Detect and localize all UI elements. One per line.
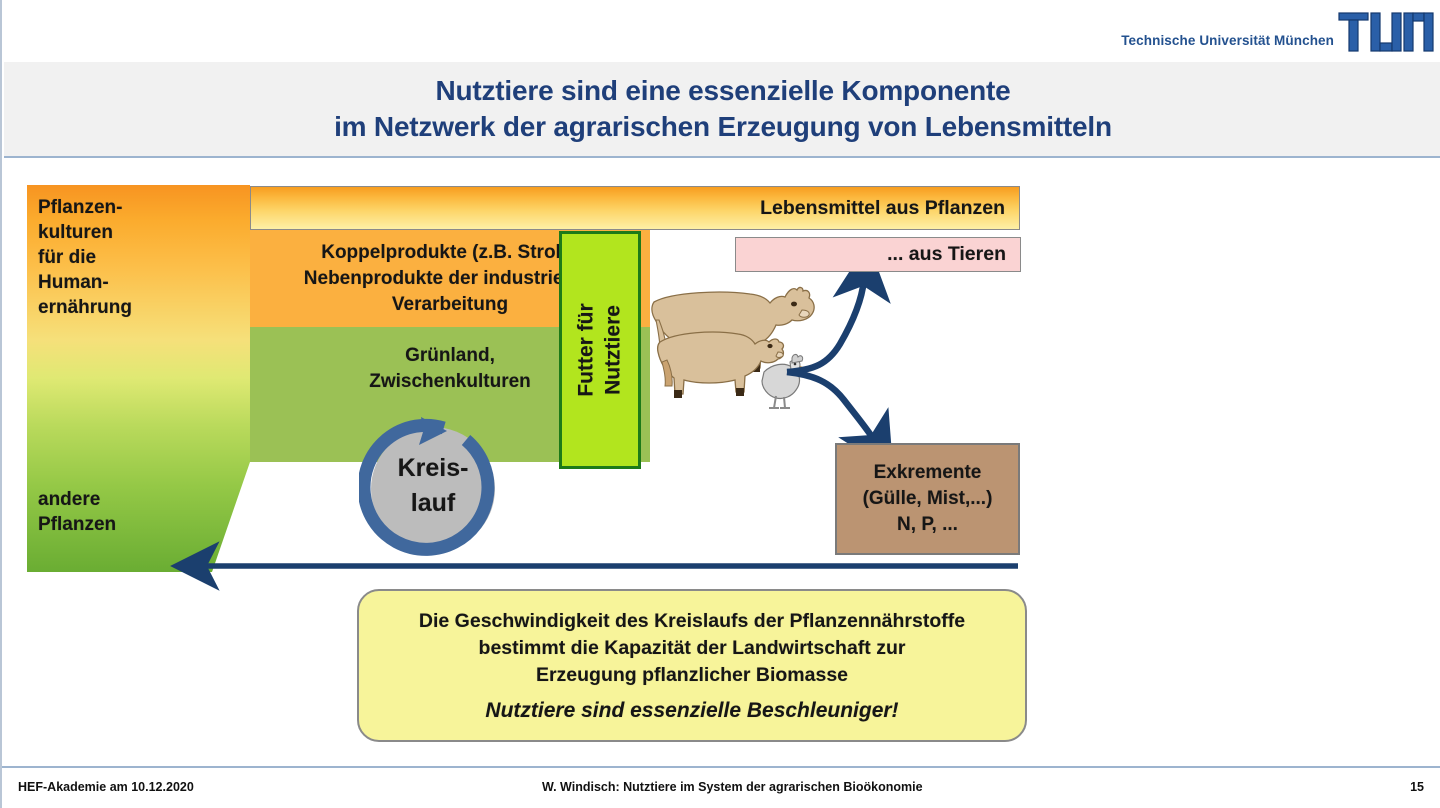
cycle-badge: Kreis- lauf: [359, 413, 507, 561]
excrement-label-line: N, P, ...: [863, 512, 993, 538]
excrement-label-line: Exkremente: [863, 460, 993, 486]
tum-logo: [1338, 12, 1434, 52]
slide-title-line-2: im Netzwerk der agrarischen Erzeugung vo…: [334, 109, 1112, 145]
conclusion-line-1: Die Geschwindigkeit des Kreislaufs der P…: [419, 608, 965, 635]
university-wordmark: Technische Universität München: [1121, 33, 1334, 48]
animal-food-box: ... aus Tieren: [735, 237, 1021, 272]
excrement-label-line: (Gülle, Mist,...): [863, 486, 993, 512]
footer-event: HEF-Akademie am 10.12.2020: [18, 780, 194, 794]
footer-page-number: 15: [1410, 780, 1424, 794]
slide: Technische Universität München Nutztiere…: [0, 0, 1440, 808]
excrement-box: Exkremente (Gülle, Mist,...) N, P, ...: [835, 443, 1020, 555]
slide-footer: HEF-Akademie am 10.12.2020 W. Windisch: …: [2, 766, 1440, 808]
footer-author: W. Windisch: Nutztiere im System der agr…: [542, 780, 923, 794]
slide-header: Technische Universität München: [2, 0, 1440, 62]
conclusion-line-2: bestimmt die Kapazität der Landwirtschaf…: [479, 635, 906, 662]
conclusion-emphasis: Nutztiere sind essenzielle Beschleuniger…: [485, 689, 898, 724]
animal-food-label: ... aus Tieren: [887, 243, 1020, 266]
cycle-diagram: Pflanzen- kulturen für die Human- ernähr…: [2, 158, 1440, 766]
slide-title-band: Nutztiere sind eine essenzielle Komponen…: [4, 62, 1440, 158]
conclusion-line-3: Erzeugung pflanzlicher Biomasse: [536, 662, 848, 689]
cycle-arrow-icon: [359, 413, 507, 561]
conclusion-box: Die Geschwindigkeit des Kreislaufs der P…: [357, 589, 1027, 742]
excrement-label: Exkremente (Gülle, Mist,...) N, P, ...: [863, 460, 993, 538]
slide-title-line-1: Nutztiere sind eine essenzielle Komponen…: [435, 73, 1010, 109]
